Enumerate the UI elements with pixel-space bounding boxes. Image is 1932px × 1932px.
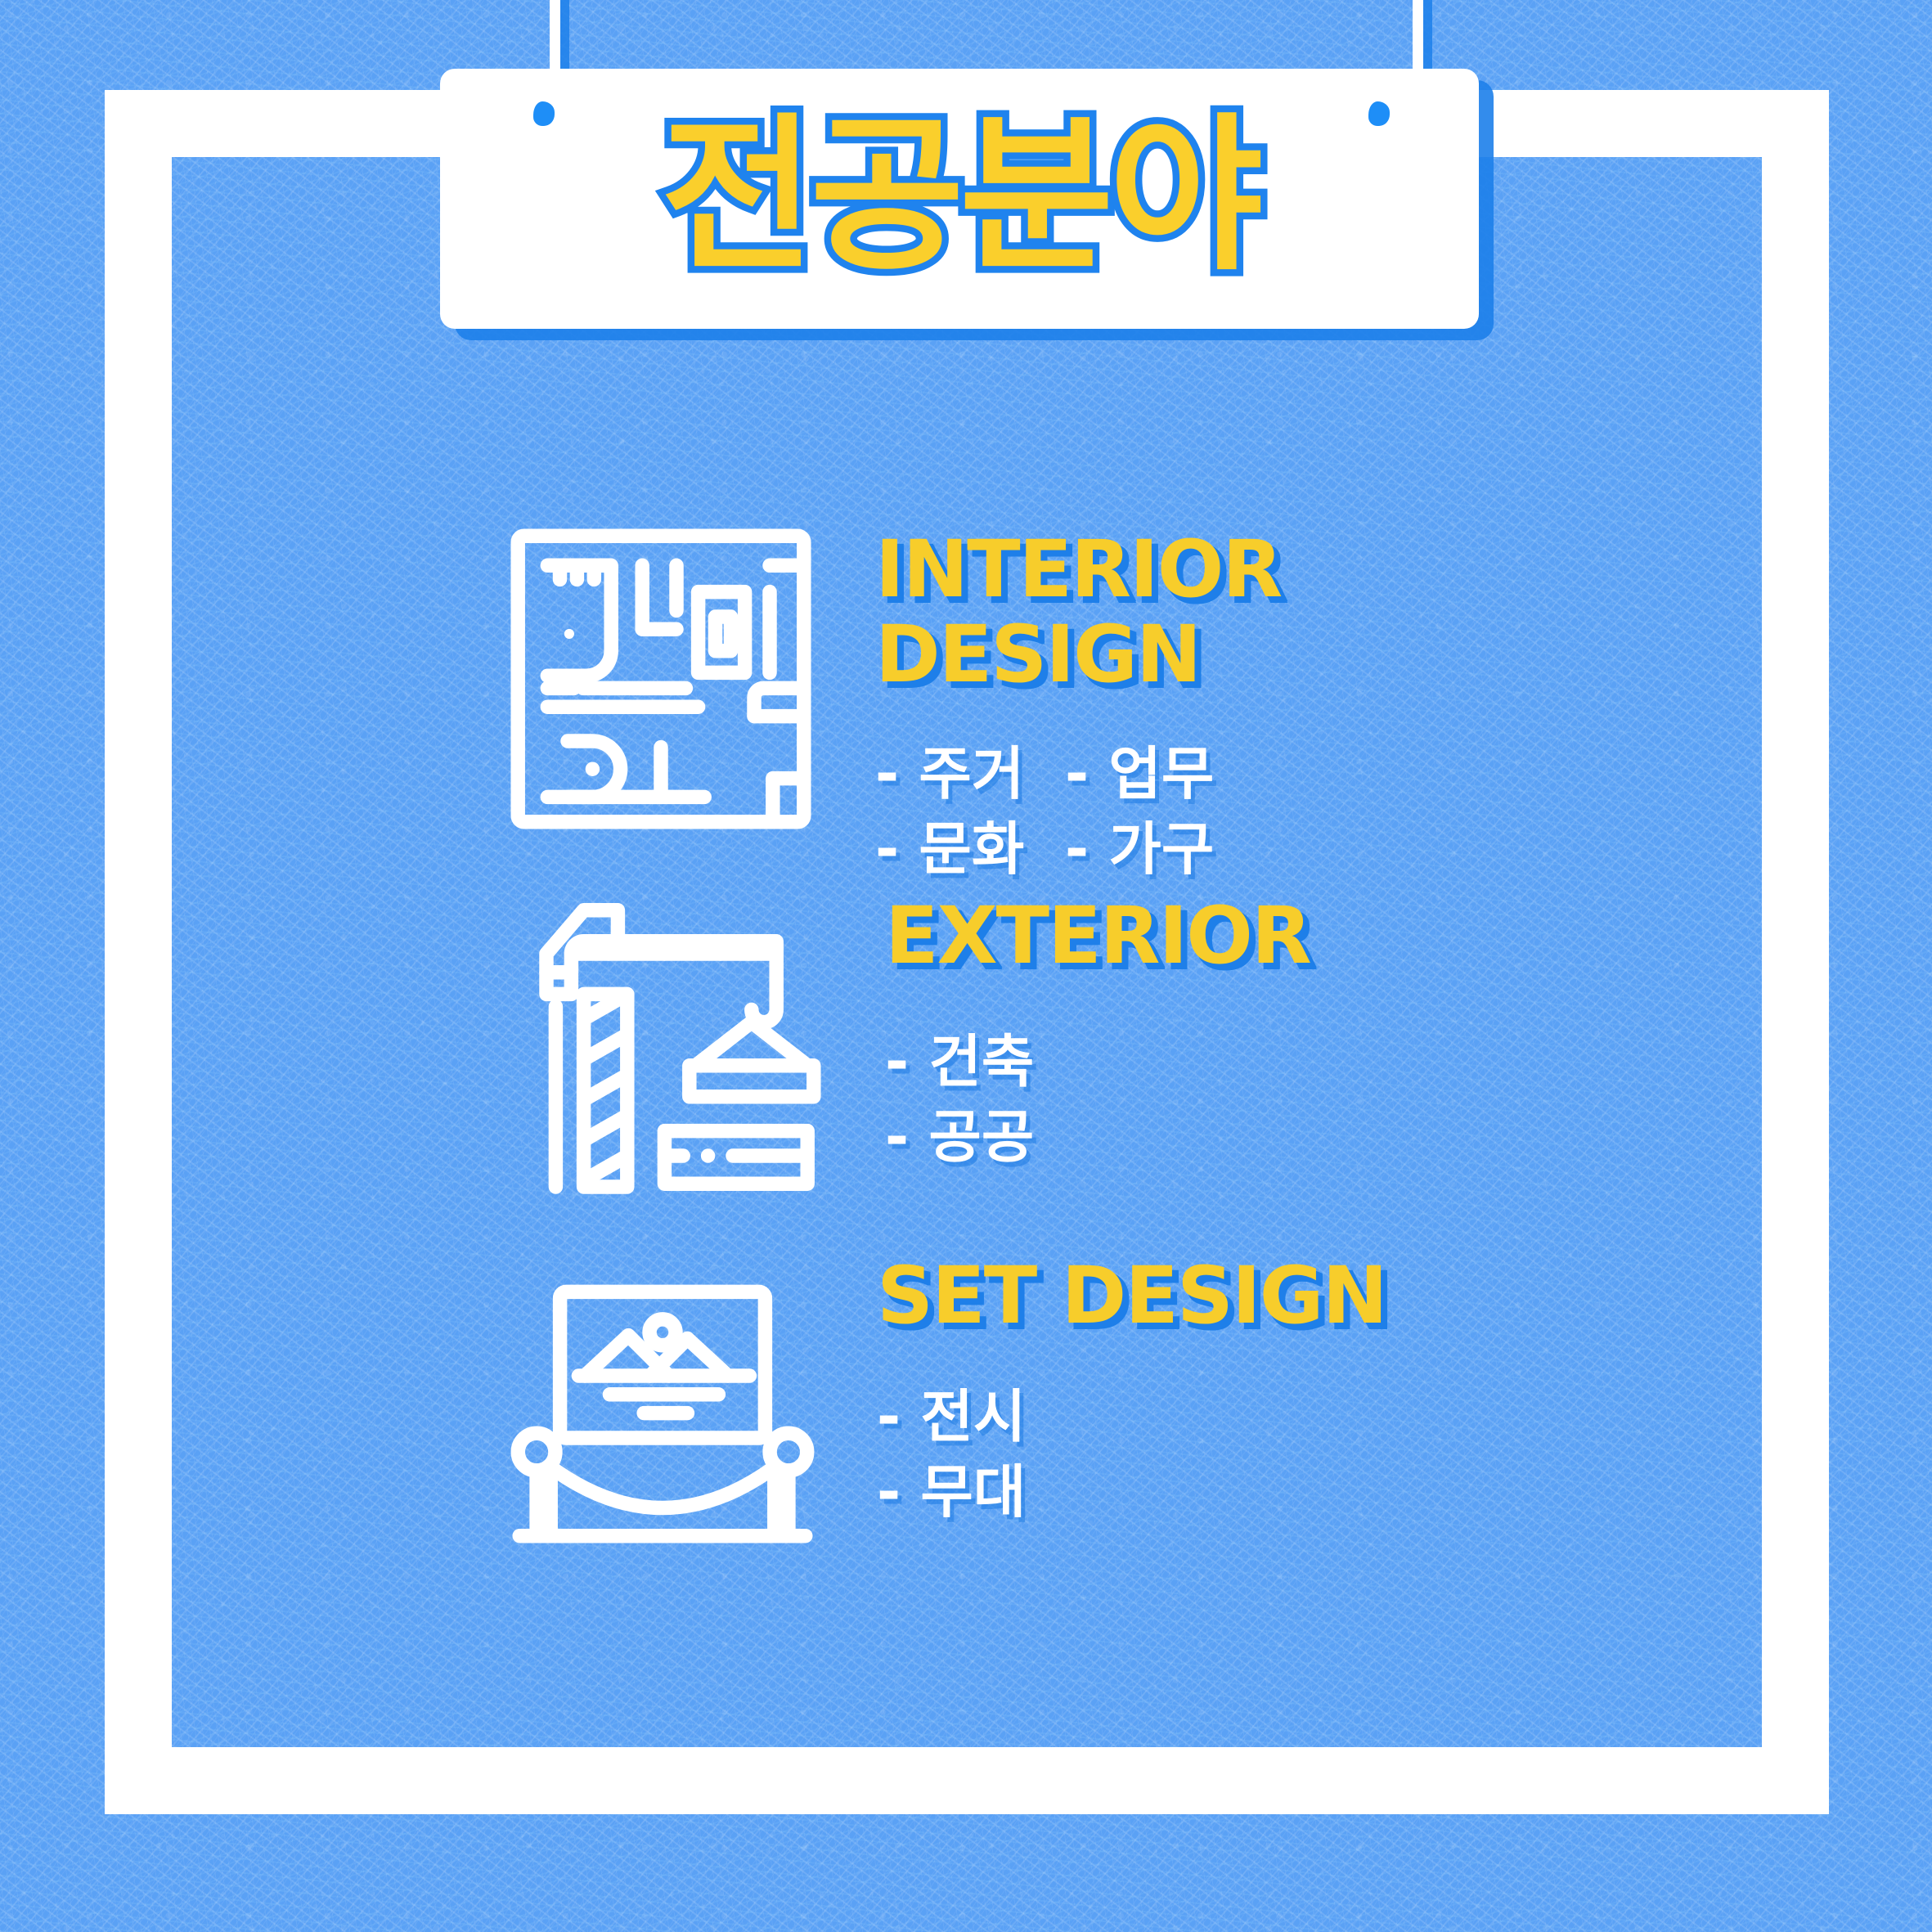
item-row: - 무대 (877, 1454, 1386, 1530)
list-item: - 업무 (1065, 736, 1255, 811)
item-row: - 문화- 가구 (875, 811, 1281, 887)
item-row: - 주거- 업무 (875, 736, 1281, 811)
list-item: - 공공 (885, 1099, 1075, 1175)
section-interior-design: INTERIOR DESIGN - 주거- 업무 - 문화- 가구 (505, 523, 1281, 887)
section-set-design: SET DESIGN - 전시 - 무대 (507, 1251, 1386, 1562)
section-items-set-design: - 전시 - 무대 (877, 1379, 1386, 1530)
list-item: - 가구 (1065, 811, 1255, 887)
floor-plan-icon (505, 523, 816, 834)
section-items-exterior: - 건축 - 공공 (885, 1024, 1310, 1175)
list-item: - 무대 (877, 1454, 1067, 1530)
list-item: - 문화 (875, 811, 1065, 887)
list-item: - 주거 (875, 736, 1065, 811)
item-row: - 전시 (877, 1379, 1386, 1454)
sections-list: INTERIOR DESIGN - 주거- 업무 - 문화- 가구 (0, 0, 1932, 1932)
item-row: - 건축 (885, 1024, 1310, 1099)
tower-crane-icon (515, 892, 826, 1202)
section-heading-interior-line2: DESIGN (875, 612, 1281, 697)
section-heading-set-design: SET DESIGN (877, 1255, 1386, 1337)
exhibition-frame-icon (507, 1251, 818, 1562)
section-exterior: EXTERIOR - 건축 - 공공 (515, 892, 1310, 1202)
list-item: - 건축 (885, 1024, 1075, 1099)
section-heading-exterior: EXTERIOR (885, 895, 1310, 977)
section-text-exterior: EXTERIOR - 건축 - 공공 (885, 892, 1310, 1175)
item-row: - 공공 (885, 1099, 1310, 1175)
section-heading-interior-line1: INTERIOR (875, 527, 1281, 612)
list-item: - 전시 (877, 1379, 1067, 1454)
section-items-interior: - 주거- 업무 - 문화- 가구 (875, 736, 1281, 887)
poster-canvas: 전공분야 (0, 0, 1932, 1932)
section-text-interior: INTERIOR DESIGN - 주거- 업무 - 문화- 가구 (875, 523, 1281, 887)
section-text-set-design: SET DESIGN - 전시 - 무대 (877, 1251, 1386, 1530)
